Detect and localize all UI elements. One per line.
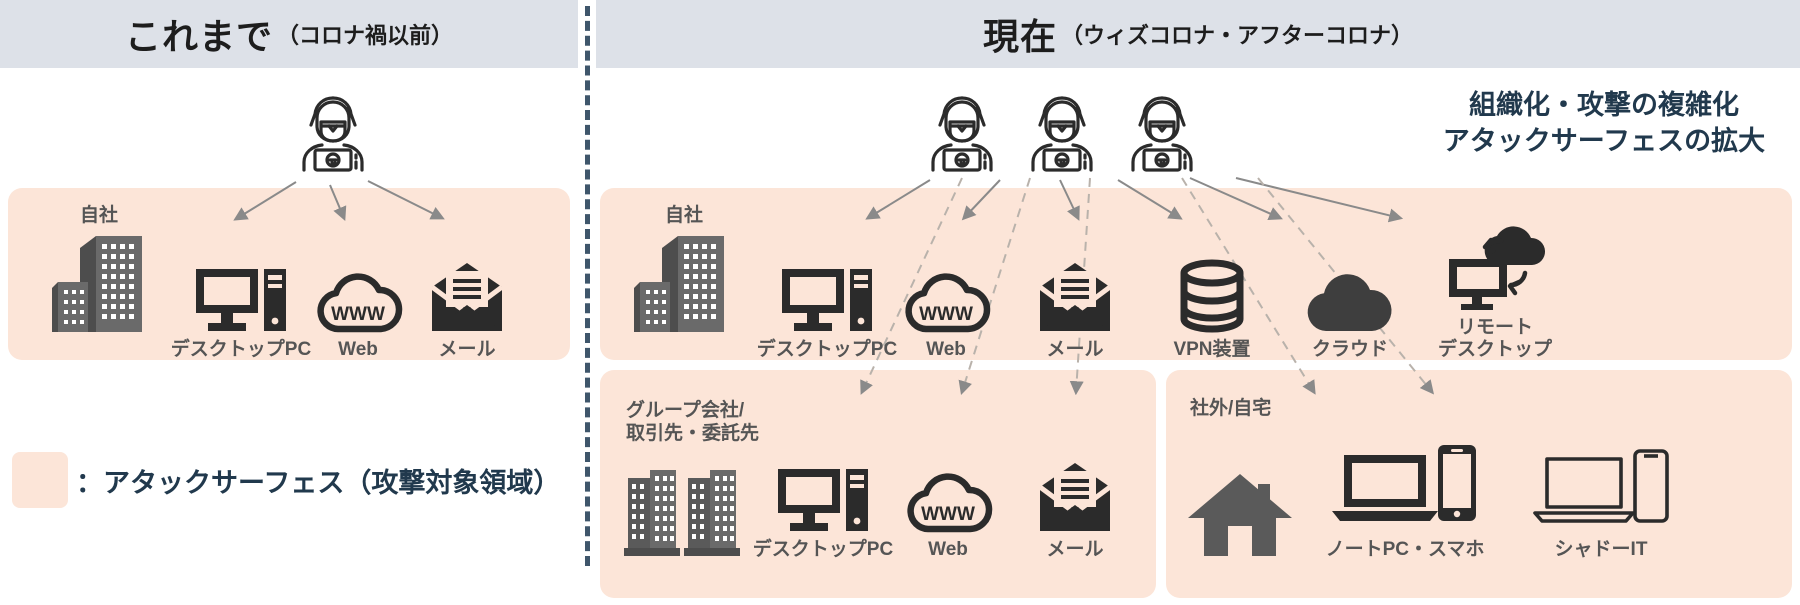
headline-text: 組織化・攻撃の複雑化 アタックサーフェスの拡大 xyxy=(1418,88,1790,159)
desktop-pc-icon xyxy=(776,467,870,533)
header-right-subtitle: （ウィズコロナ・アフターコロナ） xyxy=(1061,18,1413,50)
attack-item-laptop-smartphone: ノートPC・スマホ xyxy=(1310,412,1500,560)
attack-item-label: メール xyxy=(1046,539,1103,560)
zone-label-own-company: 自社 xyxy=(80,205,118,228)
attack-item-web: WWW Web xyxy=(902,415,994,560)
mail-icon xyxy=(1036,461,1114,533)
web-cloud-icon: WWW xyxy=(902,271,990,333)
attack-item-label: デスクトップPC xyxy=(753,539,893,560)
attack-item-cloud: クラウド xyxy=(1288,228,1412,360)
svg-text:WWW: WWW xyxy=(331,304,385,325)
attack-item-web: WWW Web xyxy=(312,232,404,360)
laptop-smartphone-icon xyxy=(1330,441,1480,533)
section-divider xyxy=(585,6,590,566)
header-left-title: これまで xyxy=(125,8,273,60)
attack-item-mail: メール xyxy=(1020,228,1130,360)
remote-desktop-icon xyxy=(1447,237,1543,311)
attack-item-label: VPN装置 xyxy=(1173,339,1250,360)
zone-label-group-company: グループ会社/ 取引先・委託先 xyxy=(626,400,759,446)
header-left-subtitle: （コロナ禍以前） xyxy=(277,18,453,50)
attack-item-label: デスクトップPC xyxy=(757,339,897,360)
attack-item-label: メール xyxy=(438,339,495,360)
attack-item-desktop-pc: デスクトップPC xyxy=(752,415,894,560)
house-icon xyxy=(1185,440,1295,560)
hacker-icon xyxy=(296,92,370,172)
attack-item-label: リモート デスクトップ xyxy=(1438,317,1552,360)
svg-text:WWW: WWW xyxy=(919,304,973,325)
office-building-icon xyxy=(40,228,160,338)
header-right: 現在 （ウィズコロナ・アフターコロナ） xyxy=(596,0,1800,68)
hacker-icon xyxy=(1025,92,1099,172)
zone-label-own-company: 自社 xyxy=(665,205,703,228)
diagram-root: これまで （コロナ禍以前） 現在 （ウィズコロナ・アフターコロナ） xyxy=(0,0,1800,605)
hacker-icon xyxy=(1125,92,1199,172)
legend-color-swatch xyxy=(12,452,68,508)
attack-item-label: シャドーIT xyxy=(1555,539,1648,560)
legend-label: ：アタックサーフェス（攻撃対象領域） xyxy=(76,461,560,500)
attack-item-label: Web xyxy=(928,539,968,560)
vpn-database-icon xyxy=(1179,259,1245,333)
attack-item-vpn: VPN装置 xyxy=(1150,228,1274,360)
attack-item-label: クラウド xyxy=(1312,339,1388,360)
hacker-icon xyxy=(925,92,999,172)
attack-item-label: Web xyxy=(338,339,378,360)
shadow-it-icon xyxy=(1531,441,1671,533)
desktop-pc-icon xyxy=(780,267,874,333)
attack-item-label: Web xyxy=(926,339,966,360)
attack-item-mail: メール xyxy=(412,228,522,360)
attack-item-web: WWW Web xyxy=(900,232,992,360)
attack-item-shadow-it: シャドーIT xyxy=(1516,412,1686,560)
attack-item-desktop-pc: デスクトップPC xyxy=(756,232,898,360)
attack-item-remote-desktop: リモート デスクトップ xyxy=(1420,218,1570,360)
attack-item-label: ノートPC・スマホ xyxy=(1326,539,1485,560)
legend: ：アタックサーフェス（攻撃対象領域） xyxy=(12,452,560,508)
mail-icon xyxy=(1036,261,1114,333)
web-cloud-icon: WWW xyxy=(314,271,402,333)
header-right-title: 現在 xyxy=(983,8,1057,60)
mail-icon xyxy=(428,261,506,333)
cloud-icon xyxy=(1304,273,1396,333)
attack-item-desktop-pc: デスクトップPC xyxy=(170,232,312,360)
web-cloud-icon: WWW xyxy=(904,471,992,533)
svg-text:WWW: WWW xyxy=(921,504,975,525)
attack-item-mail: メール xyxy=(1020,410,1130,560)
desktop-pc-icon xyxy=(194,267,288,333)
office-building-icon xyxy=(622,228,742,338)
header-left: これまで （コロナ禍以前） xyxy=(0,0,578,68)
attack-item-label: デスクトップPC xyxy=(171,339,311,360)
two-buildings-icon xyxy=(618,460,748,560)
zone-label-remote: 社外/自宅 xyxy=(1190,398,1271,421)
attack-item-label: メール xyxy=(1046,339,1103,360)
